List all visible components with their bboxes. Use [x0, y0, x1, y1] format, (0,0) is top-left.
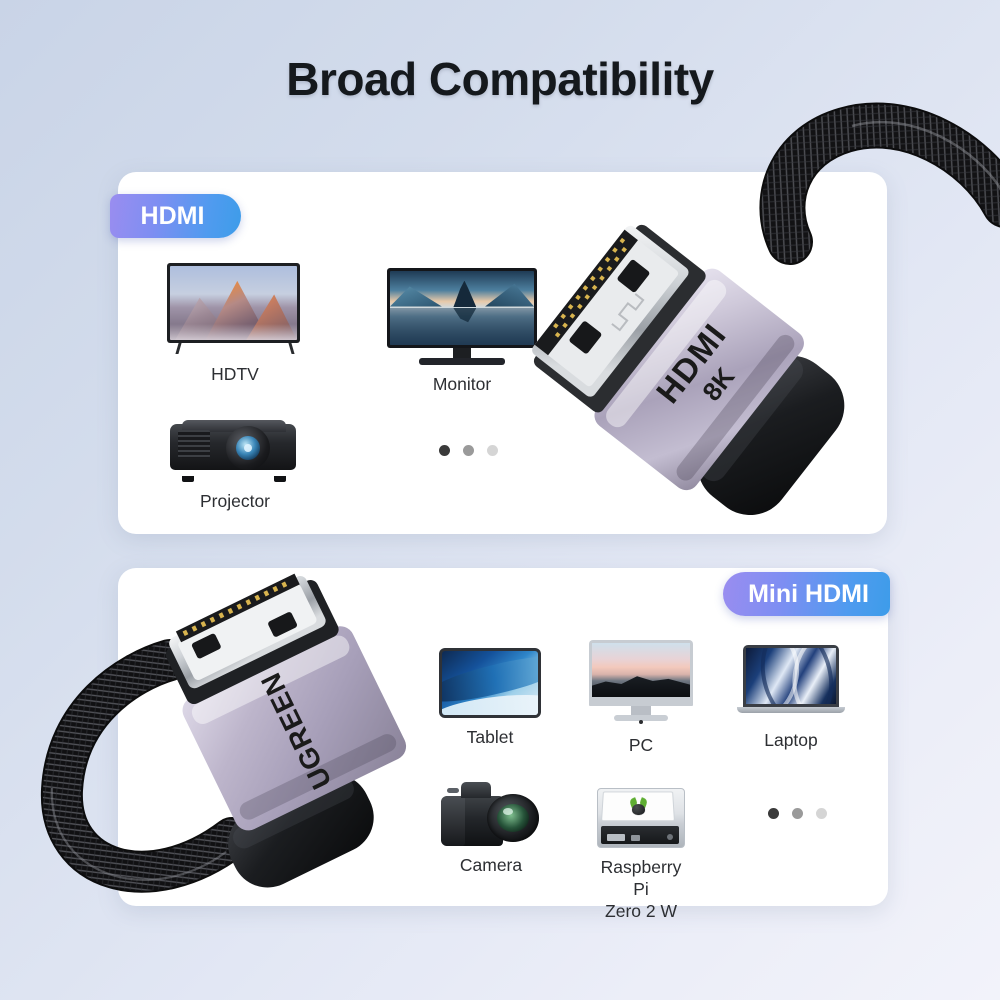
projector-icon	[170, 416, 300, 482]
laptop-icon	[737, 645, 845, 721]
device-label: Laptop	[737, 730, 845, 752]
hdtv-icon	[167, 263, 303, 355]
dot-1[interactable]	[768, 808, 779, 819]
raspberry-pi-icon	[597, 788, 685, 848]
desktop-pc-icon	[589, 640, 693, 726]
device-label: PC	[589, 735, 693, 757]
device-label: Projector	[170, 491, 300, 513]
page-title: Broad Compatibility	[0, 52, 1000, 106]
dot-2[interactable]	[792, 808, 803, 819]
dot-3[interactable]	[816, 808, 827, 819]
monitor-icon	[387, 268, 537, 365]
device-monitor: Monitor	[387, 268, 537, 396]
device-tablet: Tablet	[438, 648, 542, 749]
device-projector: Projector	[170, 416, 300, 513]
tablet-icon	[439, 648, 541, 718]
badge-label: HDMI	[141, 202, 205, 231]
device-label: Raspberry Pi Zero 2 W	[597, 857, 685, 923]
badge-label: Mini HDMI	[748, 580, 869, 609]
camera-icon	[441, 782, 541, 846]
dot-1[interactable]	[439, 445, 450, 456]
dot-2[interactable]	[463, 445, 474, 456]
compatibility-infographic: Broad Compatibility HDTV	[0, 0, 1000, 1000]
device-camera: Camera	[441, 782, 541, 877]
device-raspberry-pi: Raspberry Pi Zero 2 W	[597, 788, 685, 923]
device-label: Monitor	[387, 374, 537, 396]
dot-3[interactable]	[487, 445, 498, 456]
device-laptop: Laptop	[737, 645, 845, 752]
badge-hdmi: HDMI	[110, 194, 241, 238]
badge-mini-hdmi: Mini HDMI	[723, 572, 890, 616]
pagination-dots-hdmi[interactable]	[439, 445, 498, 456]
device-hdtv: HDTV	[167, 263, 303, 386]
device-label: Tablet	[438, 727, 542, 749]
device-label: HDTV	[167, 364, 303, 386]
device-label: Camera	[441, 855, 541, 877]
device-pc: PC	[589, 640, 693, 757]
pagination-dots-mini-hdmi[interactable]	[768, 808, 827, 819]
